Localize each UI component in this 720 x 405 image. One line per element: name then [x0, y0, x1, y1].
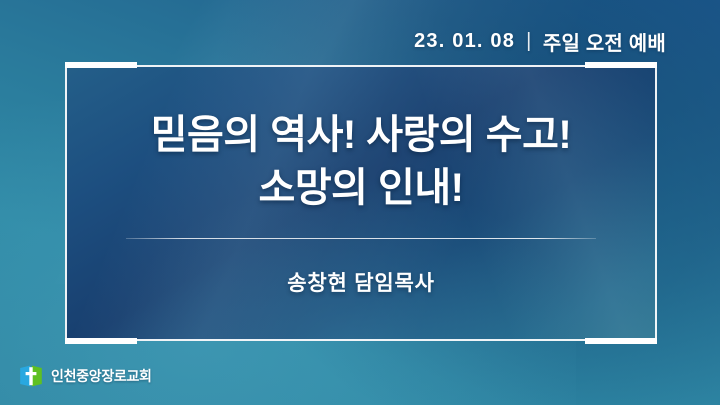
- service-name: 주일 오전 예배: [543, 27, 666, 56]
- open-door-cross-icon: [18, 363, 44, 389]
- sermon-title-slide: 23. 01. 08 | 주일 오전 예배 믿음의 역사! 사랑의 수고! 소망…: [0, 0, 720, 405]
- main-content: 믿음의 역사! 사랑의 수고! 소망의 인내! 송창현 담임목사: [65, 65, 657, 341]
- sermon-title-line-1: 믿음의 역사! 사랑의 수고!: [65, 109, 657, 162]
- sermon-title-line-2: 소망의 인내!: [65, 162, 657, 215]
- sermon-title: 믿음의 역사! 사랑의 수고! 소망의 인내!: [65, 109, 657, 215]
- title-divider: [126, 238, 596, 239]
- header-service-info: 23. 01. 08 | 주일 오전 예배: [414, 27, 666, 56]
- speaker-name: 송창현 담임목사: [287, 267, 434, 297]
- header-separator: |: [526, 30, 532, 53]
- service-date: 23. 01. 08: [414, 30, 515, 53]
- open-door-cross-icon-svg: [18, 363, 44, 389]
- church-logo: 인천중앙장로교회: [18, 363, 152, 389]
- church-name: 인천중앙장로교회: [51, 366, 152, 386]
